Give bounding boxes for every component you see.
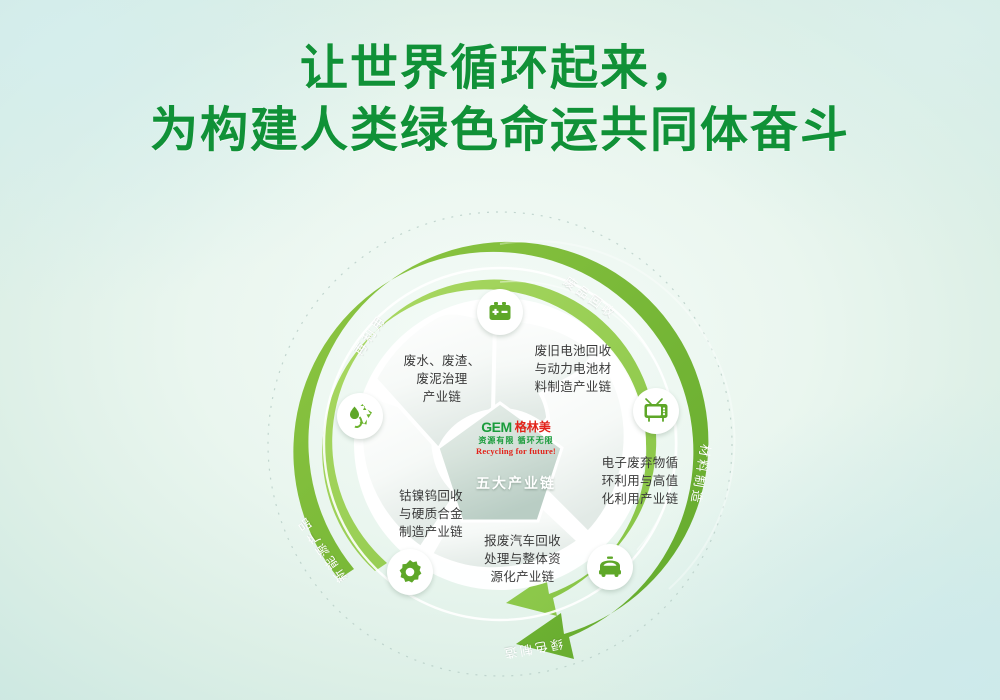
television-icon: [642, 397, 670, 425]
car-icon: [596, 555, 624, 579]
circular-economy-diagram: 废旧电池回收 与动力电池材 料制造产业链 电子废弃物循 环利用与高值 化利用产业…: [203, 207, 797, 681]
segment-icon-gear[interactable]: [387, 549, 433, 595]
headline-line-2: 为构建人类绿色命运共同体奋斗: [0, 100, 1000, 162]
segment-icon-television[interactable]: [633, 388, 679, 434]
diagram-graphics: [203, 207, 797, 681]
page-title: 让世界循环起来， 为构建人类绿色命运共同体奋斗: [0, 38, 1000, 163]
segment-icon-battery[interactable]: [477, 289, 523, 335]
segment-icon-car[interactable]: [587, 544, 633, 590]
water-recycle-icon: [346, 403, 374, 429]
gear-icon: [397, 559, 423, 585]
poster-canvas: 让世界循环起来， 为构建人类绿色命运共同体奋斗: [0, 0, 1000, 700]
battery-icon: [487, 299, 513, 325]
headline-line-1: 让世界循环起来，: [0, 38, 1000, 100]
segment-icon-water-recycle[interactable]: [337, 393, 383, 439]
